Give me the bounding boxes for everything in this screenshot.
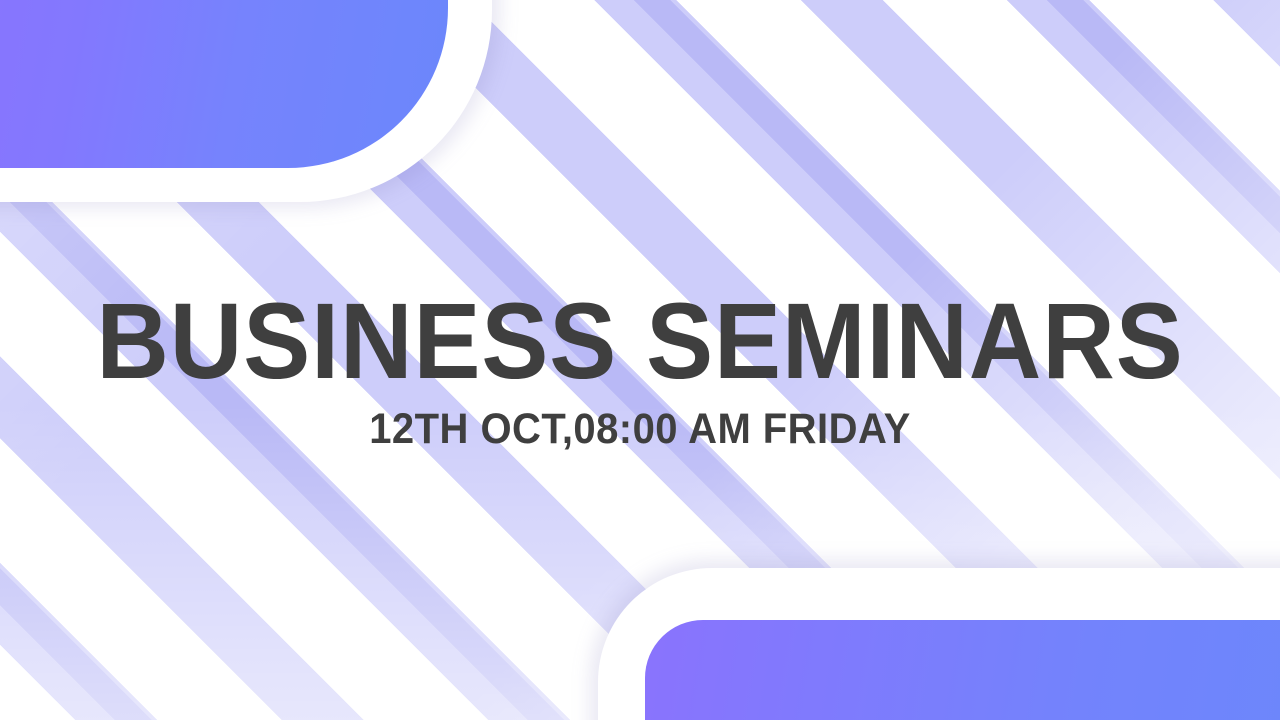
event-banner: BUSINESS SEMINARS 12TH OCT,08:00 AM FRID… — [0, 0, 1280, 720]
banner-text-block: BUSINESS SEMINARS 12TH OCT,08:00 AM FRID… — [0, 288, 1280, 451]
top-left-corner-shape — [0, 0, 500, 208]
banner-date-time: 12TH OCT,08:00 AM FRIDAY — [45, 408, 1235, 451]
bottom-right-corner-gradient-fill — [645, 620, 1280, 720]
bottom-right-corner-shape — [590, 560, 1280, 720]
banner-headline: BUSINESS SEMINARS — [45, 288, 1235, 394]
